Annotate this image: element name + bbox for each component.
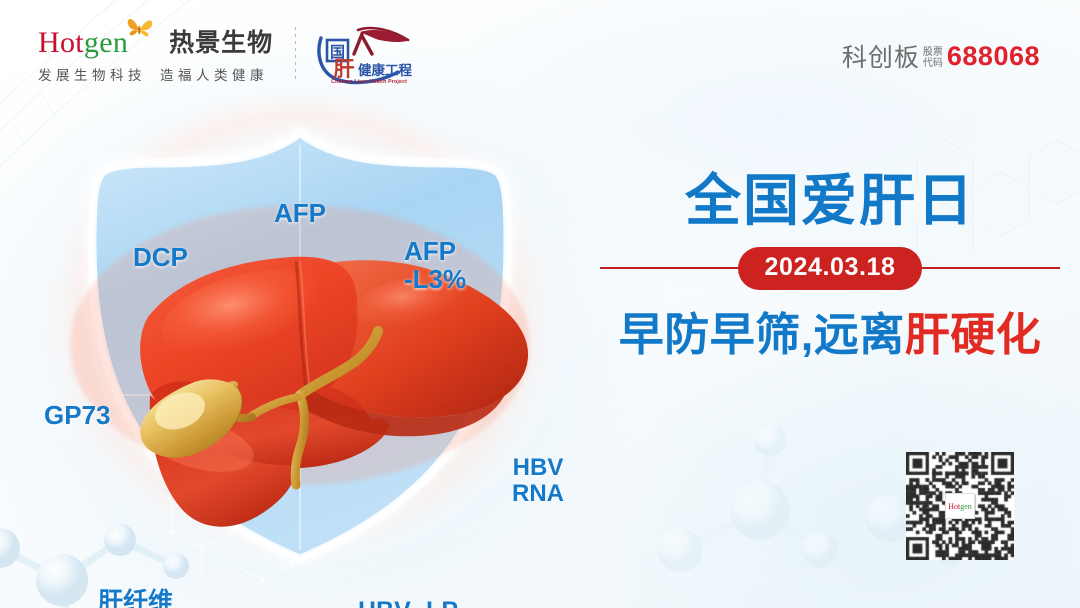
stock-code-value: 688068 [947,41,1040,72]
marker-afp-l3-line2: -L3% [404,265,466,293]
stock-info: 科创板 股票 代码 688068 [842,38,1040,74]
slogan-right: 造福人类健康 [160,64,268,84]
svg-text:健康工程: 健康工程 [358,62,412,78]
liver-shield-illustration: AFP DCP AFP -L3% GP73 HBV RNA 肝纤维 化五项 HB… [0,95,620,595]
marker-afp-l3: AFP -L3% [404,237,466,293]
logo-divider [295,27,296,83]
hotgen-logo: Hotgen 热景生物 [38,27,273,84]
qr-code[interactable]: Hotgen [906,452,1014,560]
brand-logo-group: Hotgen 热景生物 [38,24,414,86]
stock-board-label: 科创板 [842,38,920,74]
poster-header: Hotgen 热景生物 [0,0,1080,100]
shield-graphic [0,95,620,595]
marker-liver-fibrosis: 肝纤维 化五项 [98,589,173,608]
chinese-liver-health-project-logo: 国 肝 健康工程 Chinese Liver Health Project [314,24,414,86]
campaign-title: 全国爱肝日 [600,170,1060,232]
marker-afp-l3-line1: AFP [404,237,466,265]
campaign-subtitle-red: 肝硬化 [905,309,1042,360]
campaign-text-block: 全国爱肝日 2024.03.18 早防早筛,远离肝硬化 [600,170,1060,362]
brand-name-cn: 热景生物 [169,27,273,59]
partner-logo-en: Chinese Liver Health Project [322,79,416,85]
campaign-date: 2024.03.18 [738,247,921,290]
marker-hbv-rna: HBV RNA [512,455,564,507]
marker-hbv-lp: HBV -LP [358,598,458,608]
poster-root: Hotgen 热景生物 [0,0,1080,608]
marker-gp73: GP73 [44,401,111,429]
campaign-subtitle-blue: 早防早筛,远离 [619,309,905,360]
marker-afp: AFP [274,199,326,227]
campaign-date-banner: 2024.03.18 [600,246,1060,290]
stock-code-label: 股票 代码 [923,44,943,69]
qr-center-logo: Hotgen [945,493,975,519]
svg-text:肝: 肝 [334,58,355,81]
marker-dcp: DCP [133,243,188,271]
date-rule-left [600,267,752,269]
marker-hbv-rna-line1: HBV [512,455,564,481]
marker-fibrosis-line1: 肝纤维 [98,589,173,608]
brand-slogan: 发展生物科技 造福人类健康 [38,64,273,84]
brand-name-part1: Hot [38,26,84,59]
butterfly-icon [125,14,155,45]
date-rule-right [908,267,1060,269]
campaign-subtitle: 早防早筛,远离肝硬化 [600,308,1060,362]
slogan-left: 发展生物科技 [38,64,146,84]
marker-hbv-rna-line2: RNA [512,481,564,507]
brand-name-part2: gen [84,26,128,59]
